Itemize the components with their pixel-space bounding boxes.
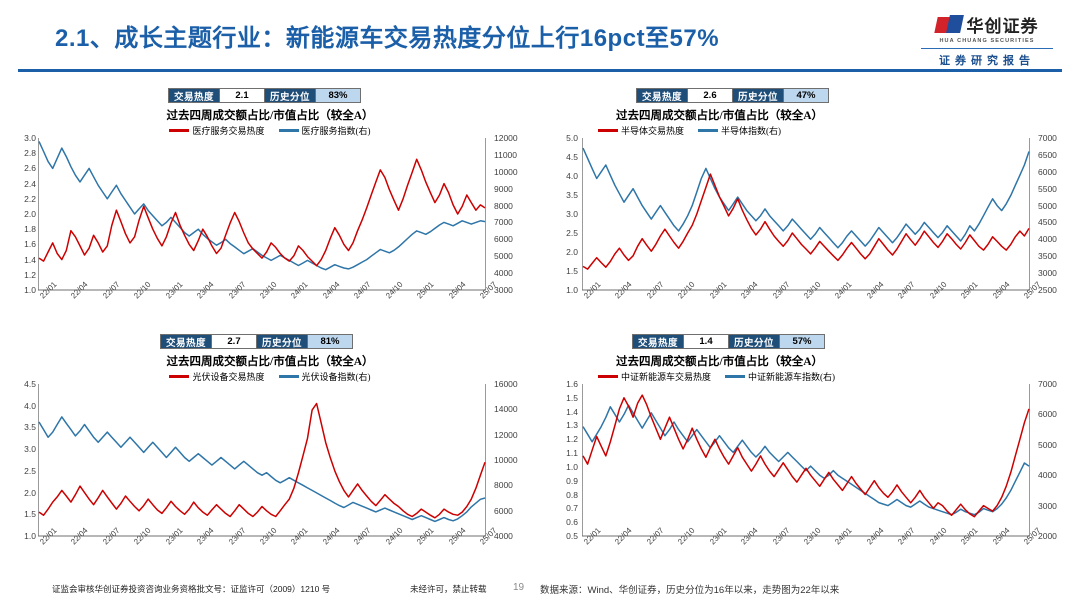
y-axis-right-tick: 12000 <box>494 430 518 440</box>
y-axis-right-tick: 4500 <box>1038 217 1057 227</box>
y-axis-left-tick: 0.8 <box>566 490 578 500</box>
y-axis-right-tick: 8000 <box>494 201 513 211</box>
badge-bar: 交易热度2.7历史分位81% <box>160 334 353 349</box>
legend-item: 中证新能源车指数(右) <box>725 370 835 383</box>
legend-label: 半导体交易热度 <box>621 124 684 137</box>
chart-legend: 中证新能源车交易热度中证新能源车指数(右) <box>598 370 835 383</box>
chart-panel-medical-services: 交易热度2.1历史分位83%过去四周成交额占比/市值占比（较全A）医疗服务交易热… <box>0 80 540 326</box>
y-axis-left-tick: 1.5 <box>566 266 578 276</box>
y-axis-left-tick: 4.0 <box>566 171 578 181</box>
legend-item: 半导体交易热度 <box>598 124 684 137</box>
y-axis-right-tick: 5500 <box>1038 184 1057 194</box>
y-axis-left-tick: 2.5 <box>566 228 578 238</box>
chart-panel-semiconductors: 交易热度2.6历史分位47%过去四周成交额占比/市值占比（较全A）半导体交易热度… <box>540 80 1080 326</box>
y-axis-right-tick: 6000 <box>494 234 513 244</box>
footer-source: 数据来源：Wind、华创证券，历史分位为16年以来，走势图为22年以来 <box>540 582 839 596</box>
logo-name-cn: 华创证券 <box>967 12 1039 37</box>
badge-bar: 交易热度2.6历史分位47% <box>636 88 829 103</box>
chart-title: 过去四周成交额占比/市值占比（较全A） <box>616 353 823 369</box>
y-axis-right-tick: 5000 <box>1038 440 1057 450</box>
y-axis-left-tick: 1.5 <box>24 509 36 519</box>
chart-legend: 光伏设备交易热度光伏设备指数(右) <box>0 370 540 383</box>
y-axis-left-tick: 1.2 <box>24 270 36 280</box>
legend-item: 中证新能源车交易热度 <box>598 370 711 383</box>
y-axis-left-tick: 1.6 <box>566 379 578 389</box>
y-axis-left: 3.02.82.62.42.22.01.81.61.41.21.0 <box>2 138 36 290</box>
legend-swatch <box>725 375 745 378</box>
y-axis-right-tick: 7000 <box>1038 133 1057 143</box>
legend-item: 医疗服务交易热度 <box>169 124 264 137</box>
chart-title: 过去四周成交额占比/市值占比（较全A） <box>0 107 540 123</box>
y-axis-left-tick: 3.0 <box>24 444 36 454</box>
badge-percentile-label: 历史分位 <box>729 335 779 348</box>
legend-label: 医疗服务指数(右) <box>302 124 371 137</box>
badge-heat-label: 交易热度 <box>161 335 211 348</box>
y-axis-left-tick: 3.5 <box>24 422 36 432</box>
y-axis-left: 1.61.51.41.31.21.11.00.90.80.70.60.5 <box>544 384 578 536</box>
badge-heat-value: 1.4 <box>684 335 728 348</box>
y-axis-left-tick: 2.4 <box>24 179 36 189</box>
y-axis-left-tick: 4.5 <box>566 152 578 162</box>
y-axis-right-tick: 3000 <box>1038 268 1057 278</box>
badge-percentile-value: 47% <box>784 89 828 102</box>
slide-header: 2.1、成长主题行业：新能源车交易热度分位上行16pct至57% 华创证券 HU… <box>0 0 1080 72</box>
y-axis-right-tick: 7000 <box>1038 379 1057 389</box>
legend-item: 光伏设备指数(右) <box>279 370 371 383</box>
legend-label: 中证新能源车指数(右) <box>748 370 835 383</box>
page-title: 2.1、成长主题行业：新能源车交易热度分位上行16pct至57% <box>55 18 719 53</box>
y-axis-left-tick: 5.0 <box>566 133 578 143</box>
company-logo: 华创证券 HUA CHUANG SECURITIES 证券研究报告 <box>912 12 1062 68</box>
y-axis-left-tick: 1.8 <box>24 224 36 234</box>
footer-license: 证监会审核华创证券投资咨询业务资格批文号：证监许可（2009）1210 号 <box>52 583 330 595</box>
badge-heat-label: 交易热度 <box>169 89 219 102</box>
badge-percentile-value: 83% <box>316 89 360 102</box>
badge-heat-value: 2.1 <box>220 89 264 102</box>
legend-item: 光伏设备交易热度 <box>169 370 264 383</box>
y-axis-right-tick: 14000 <box>494 404 518 414</box>
y-axis-right-tick: 4000 <box>1038 470 1057 480</box>
y-axis-right-tick: 9000 <box>494 184 513 194</box>
badge-heat-value: 2.7 <box>212 335 256 348</box>
y-axis-left-tick: 0.5 <box>566 531 578 541</box>
chart-panel-csi-new-energy-vehicle: 交易热度1.4历史分位57%过去四周成交额占比/市值占比（较全A）中证新能源车交… <box>540 326 1080 572</box>
y-axis-right-tick: 11000 <box>494 150 517 160</box>
y-axis-right-tick: 4000 <box>1038 234 1057 244</box>
y-axis-right: 7000650060005500500045004000350030002500 <box>1034 138 1068 290</box>
y-axis-right-tick: 3000 <box>1038 501 1057 511</box>
chart-title: 过去四周成交额占比/市值占比（较全A） <box>0 353 540 369</box>
y-axis-left-tick: 1.5 <box>566 393 578 403</box>
y-axis-left-tick: 3.5 <box>566 190 578 200</box>
series-line <box>39 417 485 522</box>
y-axis-left-tick: 2.0 <box>24 209 36 219</box>
header-divider <box>18 69 1062 72</box>
legend-swatch <box>598 375 618 378</box>
badge-percentile-label: 历史分位 <box>733 89 783 102</box>
y-axis-left-tick: 4.0 <box>24 401 36 411</box>
badge-bar: 交易热度1.4历史分位57% <box>632 334 825 349</box>
series-line <box>39 404 485 518</box>
badge-heat-value: 2.6 <box>688 89 732 102</box>
y-axis-left: 4.54.03.53.02.52.01.51.0 <box>2 384 36 536</box>
legend-label: 光伏设备指数(右) <box>302 370 371 383</box>
y-axis-right-tick: 6500 <box>1038 150 1057 160</box>
x-axis: 22/0122/0422/0722/1023/0123/0423/0723/10… <box>38 538 486 570</box>
series-line <box>583 148 1029 248</box>
logo-subtitle: 证券研究报告 <box>912 52 1062 68</box>
x-axis: 22/0122/0422/0722/1023/0123/0423/0723/10… <box>582 538 1030 570</box>
y-axis-left-tick: 1.6 <box>24 239 36 249</box>
y-axis-left-tick: 3.0 <box>24 133 36 143</box>
y-axis-right: 700060005000400030002000 <box>1034 384 1068 536</box>
y-axis-left-tick: 0.9 <box>566 476 578 486</box>
legend-swatch <box>279 129 299 132</box>
y-axis-left-tick: 1.4 <box>24 255 36 265</box>
legend-item: 医疗服务指数(右) <box>279 124 371 137</box>
y-axis-left-tick: 2.2 <box>24 194 36 204</box>
y-axis-left-tick: 1.0 <box>24 285 36 295</box>
y-axis-right: 1200011000100009000800070006000500040003… <box>490 138 524 290</box>
slide-footer: 证监会审核华创证券投资咨询业务资格批文号：证监许可（2009）1210 号 未经… <box>0 578 1080 608</box>
footer-notice: 未经许可，禁止转载 <box>410 583 487 595</box>
y-axis-right: 16000140001200010000800060004000 <box>490 384 524 536</box>
legend-swatch <box>169 129 189 132</box>
y-axis-right-tick: 10000 <box>494 167 518 177</box>
series-line <box>583 174 1029 269</box>
plot-area <box>582 138 1030 290</box>
x-axis: 22/0122/0422/0722/1023/0123/0423/0723/10… <box>582 292 1030 324</box>
y-axis-left-tick: 0.6 <box>566 517 578 527</box>
y-axis-right-tick: 5000 <box>494 251 513 261</box>
y-axis-right-tick: 12000 <box>494 133 518 143</box>
plot-area <box>38 384 486 536</box>
chart-legend: 半导体交易热度半导体指数(右) <box>598 124 781 137</box>
y-axis-left-tick: 1.0 <box>566 285 578 295</box>
y-axis-right-tick: 16000 <box>494 379 518 389</box>
legend-label: 医疗服务交易热度 <box>192 124 264 137</box>
legend-label: 半导体指数(右) <box>721 124 781 137</box>
y-axis-left-tick: 1.4 <box>566 407 578 417</box>
series-line <box>39 159 485 265</box>
badge-percentile-value: 57% <box>780 335 824 348</box>
y-axis-left-tick: 1.0 <box>24 531 36 541</box>
y-axis-left-tick: 2.0 <box>24 488 36 498</box>
x-axis: 22/0122/0422/0722/1023/0123/0423/0723/10… <box>38 292 486 324</box>
legend-item: 半导体指数(右) <box>698 124 781 137</box>
y-axis-right-tick: 4000 <box>494 268 513 278</box>
plot-area <box>38 138 486 290</box>
series-line <box>583 405 1029 514</box>
badge-bar: 交易热度2.1历史分位83% <box>168 88 361 103</box>
series-line <box>583 395 1029 517</box>
legend-label: 光伏设备交易热度 <box>192 370 264 383</box>
y-axis-left-tick: 4.5 <box>24 379 36 389</box>
legend-swatch <box>169 375 189 378</box>
legend-label: 中证新能源车交易热度 <box>621 370 711 383</box>
y-axis-left: 5.04.54.03.53.02.52.01.51.0 <box>544 138 578 290</box>
badge-percentile-label: 历史分位 <box>265 89 315 102</box>
badge-percentile-value: 81% <box>308 335 352 348</box>
logo-cube-icon <box>936 15 962 34</box>
chart-grid: 交易热度2.1历史分位83%过去四周成交额占比/市值占比（较全A）医疗服务交易热… <box>0 80 1080 572</box>
y-axis-right-tick: 6000 <box>1038 409 1057 419</box>
y-axis-left-tick: 2.8 <box>24 148 36 158</box>
legend-swatch <box>279 375 299 378</box>
y-axis-left-tick: 2.5 <box>24 466 36 476</box>
badge-percentile-label: 历史分位 <box>257 335 307 348</box>
legend-swatch <box>698 129 718 132</box>
y-axis-right-tick: 5000 <box>1038 201 1057 211</box>
y-axis-right-tick: 6000 <box>1038 167 1057 177</box>
badge-heat-label: 交易热度 <box>633 335 683 348</box>
y-axis-left-tick: 3.0 <box>566 209 578 219</box>
y-axis-left-tick: 1.2 <box>566 434 578 444</box>
plot-area <box>582 384 1030 536</box>
y-axis-right-tick: 3500 <box>1038 251 1057 261</box>
page-number: 19 <box>513 582 524 593</box>
y-axis-left-tick: 2.0 <box>566 247 578 257</box>
y-axis-left-tick: 1.0 <box>566 462 578 472</box>
chart-title: 过去四周成交额占比/市值占比（较全A） <box>616 107 823 123</box>
y-axis-right-tick: 8000 <box>494 480 513 490</box>
logo-name-en: HUA CHUANG SECURITIES <box>912 38 1062 44</box>
y-axis-right-tick: 6000 <box>494 506 513 516</box>
y-axis-left-tick: 2.6 <box>24 163 36 173</box>
y-axis-right-tick: 10000 <box>494 455 518 465</box>
y-axis-left-tick: 1.3 <box>566 420 578 430</box>
logo-divider <box>921 48 1053 49</box>
chart-panel-photovoltaic-equipment: 交易热度2.7历史分位81%过去四周成交额占比/市值占比（较全A）光伏设备交易热… <box>0 326 540 572</box>
y-axis-left-tick: 1.1 <box>566 448 578 458</box>
legend-swatch <box>598 129 618 132</box>
y-axis-left-tick: 0.7 <box>566 503 578 513</box>
chart-legend: 医疗服务交易热度医疗服务指数(右) <box>0 124 540 137</box>
badge-heat-label: 交易热度 <box>637 89 687 102</box>
y-axis-right-tick: 7000 <box>494 217 513 227</box>
